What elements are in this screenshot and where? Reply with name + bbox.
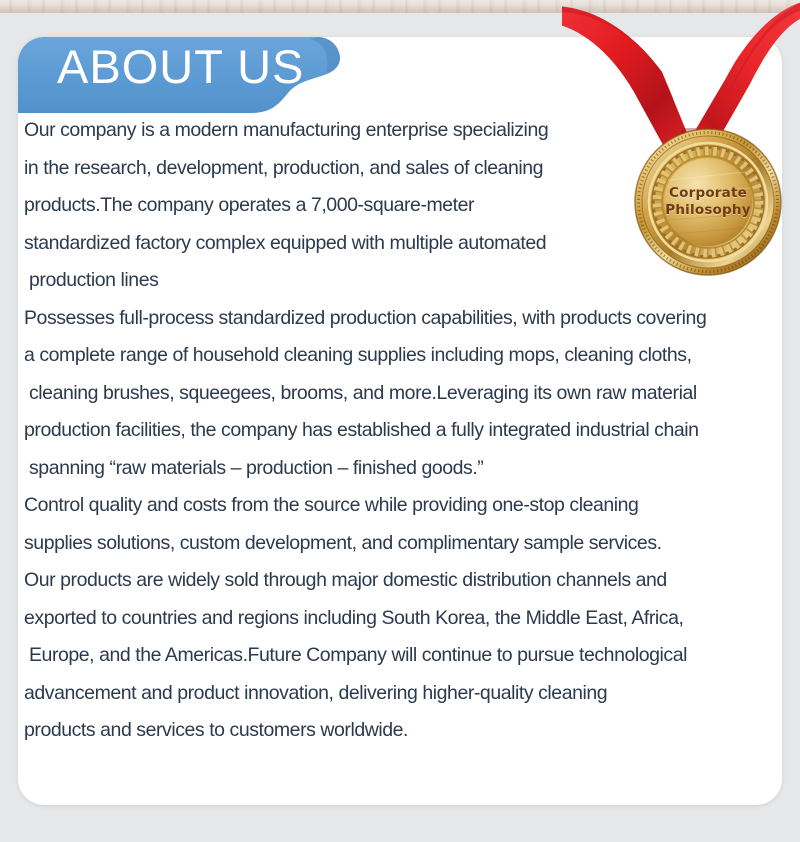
text-line: supplies solutions, custom development, …	[24, 525, 776, 563]
text-line: production facilities, the company has e…	[24, 412, 776, 450]
paragraph-2: Possesses full-process standardized prod…	[24, 300, 776, 488]
text-line: standardized factory complex equipped wi…	[24, 225, 776, 263]
text-line: cleaning brushes, squeegees, brooms, and…	[24, 375, 776, 413]
paragraph-3: Control quality and costs from the sourc…	[24, 487, 776, 750]
text-line: exported to countries and regions includ…	[24, 600, 776, 638]
page-title: ABOUT US	[57, 38, 304, 96]
text-line: Our products are widely sold through maj…	[24, 562, 776, 600]
text-line: spanning “raw materials – production – f…	[24, 450, 776, 488]
about-us-body: Our company is a modern manufacturing en…	[24, 112, 776, 750]
text-line: products and services to customers world…	[24, 712, 776, 750]
text-line: in the research, development, production…	[24, 150, 776, 188]
text-line: Europe, and the Americas.Future Company …	[24, 637, 776, 675]
text-line: Possesses full-process standardized prod…	[24, 300, 776, 338]
text-line: a complete range of household cleaning s…	[24, 337, 776, 375]
text-line: advancement and product innovation, deli…	[24, 675, 776, 713]
text-line: products.The company operates a 7,000-sq…	[24, 187, 776, 225]
wood-texture-strip	[0, 0, 800, 13]
text-line: Our company is a modern manufacturing en…	[24, 112, 776, 150]
paragraph-1: Our company is a modern manufacturing en…	[24, 112, 776, 300]
text-line: Control quality and costs from the sourc…	[24, 487, 776, 525]
text-line: production lines	[24, 262, 776, 300]
